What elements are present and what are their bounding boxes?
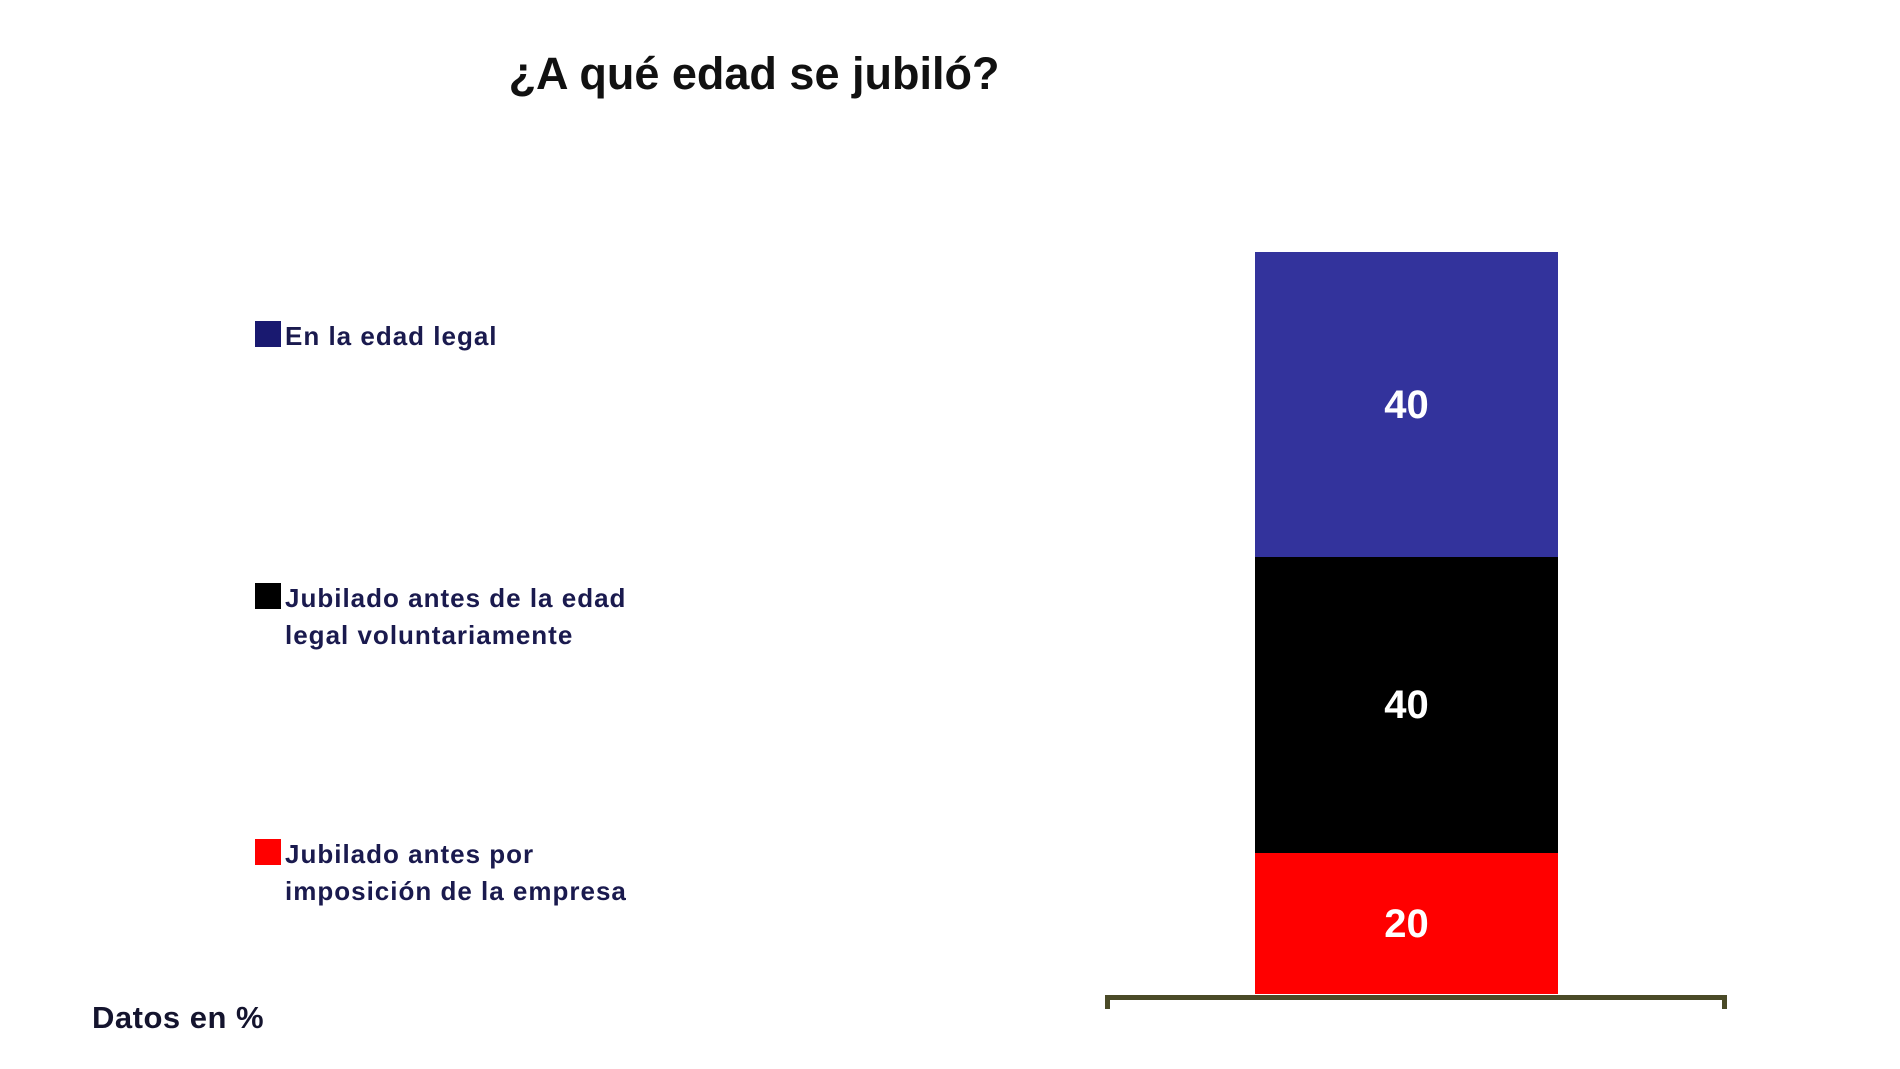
bar-value-label: 20 [1384, 904, 1429, 944]
page-title: ¿A qué edad se jubiló? [0, 48, 1704, 100]
bar-value-label: 40 [1384, 685, 1429, 725]
bar-segment-jubilado-voluntariamente[interactable]: 40 [1255, 557, 1558, 853]
legend-item-en-la-edad-legal[interactable]: En la edad legal [255, 318, 498, 355]
stacked-bar: 40 40 20 [1255, 252, 1558, 994]
legend-swatch-blue-icon [255, 321, 281, 347]
axis-tick-left [1105, 995, 1110, 1009]
legend-swatch-black-icon [255, 583, 281, 609]
legend-item-jubilado-imposicion-empresa[interactable]: Jubilado antes por imposición de la empr… [255, 836, 627, 910]
legend-item-label: Jubilado antes de la edad legal voluntar… [285, 580, 626, 654]
data-units-note: Datos en % [92, 1000, 264, 1036]
legend-swatch-red-icon [255, 839, 281, 865]
legend-item-label: Jubilado antes por imposición de la empr… [285, 836, 627, 910]
legend-item-jubilado-voluntariamente[interactable]: Jubilado antes de la edad legal voluntar… [255, 580, 626, 654]
legend-item-label: En la edad legal [285, 318, 498, 355]
bar-segment-en-la-edad-legal[interactable]: 40 [1255, 252, 1558, 557]
bar-value-label: 40 [1384, 385, 1429, 425]
axis-baseline [1105, 995, 1727, 1000]
axis-tick-right [1722, 995, 1727, 1009]
chart-root: ¿A qué edad se jubiló? En la edad legal … [0, 0, 1900, 1069]
plot-area: 40 40 20 [1255, 252, 1558, 994]
bar-segment-jubilado-imposicion-empresa[interactable]: 20 [1255, 853, 1558, 994]
